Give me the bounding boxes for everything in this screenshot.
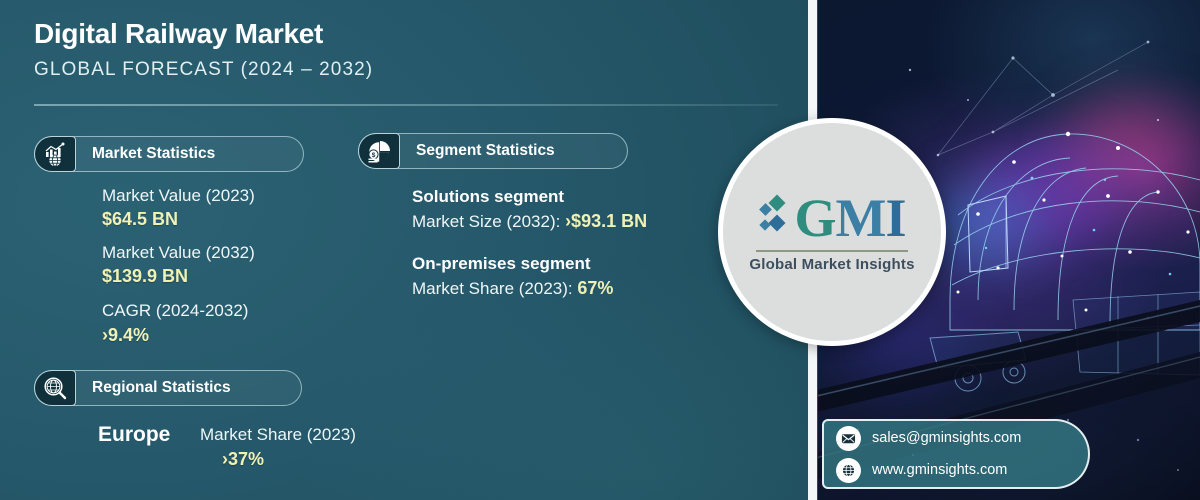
pie-chart-coin-icon: $	[358, 133, 400, 169]
gmi-logo-badge: GMI Global Market Insights	[718, 118, 946, 346]
cagr-value: ›9.4%	[102, 325, 149, 346]
logo-letter-i: I	[885, 191, 905, 245]
header-divider	[34, 104, 778, 106]
badge-market-statistics[interactable]: Market Statistics	[34, 136, 304, 172]
badge-segment-statistics[interactable]: $ Segment Statistics	[358, 133, 628, 169]
badge-label: Regional Statistics	[76, 379, 251, 397]
onpremises-metric-label: Market Share (2023):	[412, 279, 577, 298]
logo-rule	[756, 250, 908, 252]
logo-tagline: Global Market Insights	[749, 256, 914, 273]
gmi-logo-mark: GMI	[759, 191, 906, 245]
market-value-2032-value: $139.9 BN	[102, 266, 188, 287]
envelope-icon	[836, 426, 861, 451]
solutions-metric-value: ›$93.1 BN	[565, 211, 647, 231]
solutions-metric-label: Market Size (2032):	[412, 212, 565, 231]
contact-email-row[interactable]: sales@gminsights.com	[836, 426, 1088, 451]
infographic-root: Digital Railway Market GLOBAL FORECAST (…	[0, 0, 1200, 500]
solutions-segment-metric: Market Size (2032): ›$93.1 BN	[412, 211, 647, 232]
bar-chart-globe-icon	[34, 136, 76, 172]
globe-icon	[836, 458, 861, 483]
contact-panel: sales@gminsights.com www.gminsights.com	[822, 419, 1090, 489]
market-value-2023-label: Market Value (2023)	[102, 186, 255, 206]
email-text: sales@gminsights.com	[872, 430, 1021, 446]
onpremises-segment-metric: Market Share (2023): 67%	[412, 278, 613, 299]
onpremises-metric-value: 67%	[577, 278, 613, 298]
diamond-cluster-icon	[759, 191, 793, 245]
region-name: Europe	[98, 423, 170, 447]
logo-letter-m: M	[836, 191, 886, 245]
page-subtitle: GLOBAL FORECAST (2024 – 2032)	[34, 59, 373, 81]
logo-letter-g: G	[795, 191, 836, 245]
region-metric-value: ›37%	[222, 449, 264, 470]
contact-website-row[interactable]: www.gminsights.com	[836, 458, 1088, 483]
onpremises-segment-heading: On-premises segment	[412, 254, 591, 274]
page-title: Digital Railway Market	[34, 18, 323, 50]
svg-text:$: $	[372, 152, 376, 159]
badge-label: Market Statistics	[76, 145, 235, 163]
badge-regional-statistics[interactable]: Regional Statistics	[34, 370, 302, 406]
region-metric-label: Market Share (2023)	[200, 425, 356, 445]
website-text: www.gminsights.com	[872, 462, 1007, 478]
market-value-2032-label: Market Value (2032)	[102, 243, 255, 263]
market-value-2023-value: $64.5 BN	[102, 209, 178, 230]
solutions-segment-heading: Solutions segment	[412, 187, 564, 207]
badge-label: Segment Statistics	[400, 142, 575, 160]
globe-magnifier-icon	[34, 370, 76, 406]
cagr-label: CAGR (2024-2032)	[102, 301, 248, 321]
left-content-panel: Digital Railway Market GLOBAL FORECAST (…	[0, 0, 812, 500]
